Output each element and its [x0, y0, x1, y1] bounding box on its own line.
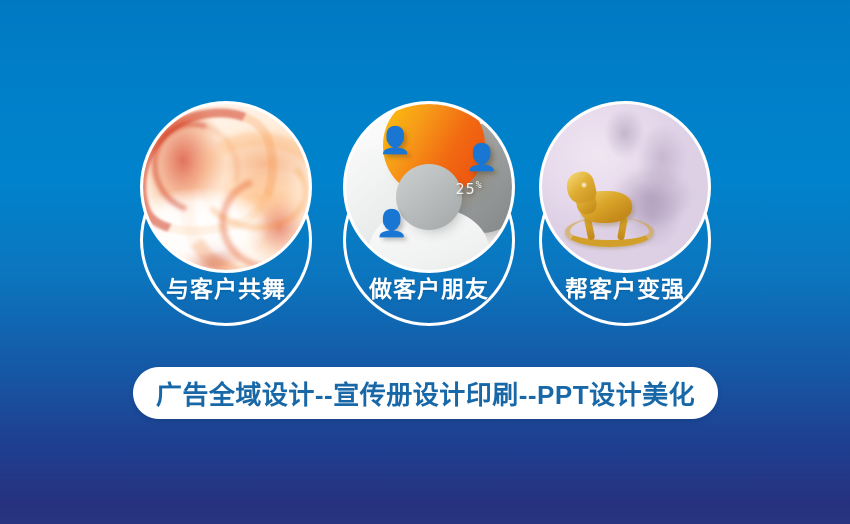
- person-at-desk-icon: 👤: [376, 210, 408, 236]
- rocking-horse-icon: [565, 177, 658, 253]
- circle-caption-friend: 做客户朋友: [331, 270, 527, 304]
- feature-circle-dance[interactable]: 与客户共舞: [128, 88, 324, 328]
- services-banner-text: 广告全域设计--宣传册设计印刷--PPT设计美化: [156, 375, 695, 412]
- infographic-blobs-art: 👤 👤 👤 25%: [346, 104, 512, 270]
- poster-canvas: 与客户共舞 👤 👤 👤 25%: [0, 0, 850, 524]
- circle-caption-stronger: 帮客户变强: [527, 270, 723, 304]
- circle-photo-friend: 👤 👤 👤 25%: [343, 101, 515, 273]
- person-standing-icon: 👤: [466, 144, 498, 170]
- orange-smoke-swirl-art: [143, 104, 309, 270]
- feature-circle-friend[interactable]: 👤 👤 👤 25% 做客户朋友: [331, 88, 527, 328]
- feature-circle-stronger[interactable]: 帮客户变强: [527, 88, 723, 328]
- feature-circle-row: 与客户共舞 👤 👤 👤 25%: [0, 0, 850, 340]
- circle-photo-stronger: [539, 101, 711, 273]
- circle-caption-dance: 与客户共舞: [128, 270, 324, 304]
- golden-rocking-horse-art: [542, 104, 708, 270]
- stat-percentage-label: 25%: [456, 180, 483, 198]
- circle-photo-dance: [140, 101, 312, 273]
- services-banner[interactable]: 广告全域设计--宣传册设计印刷--PPT设计美化: [133, 367, 718, 419]
- person-presenting-icon: 👤: [379, 127, 411, 153]
